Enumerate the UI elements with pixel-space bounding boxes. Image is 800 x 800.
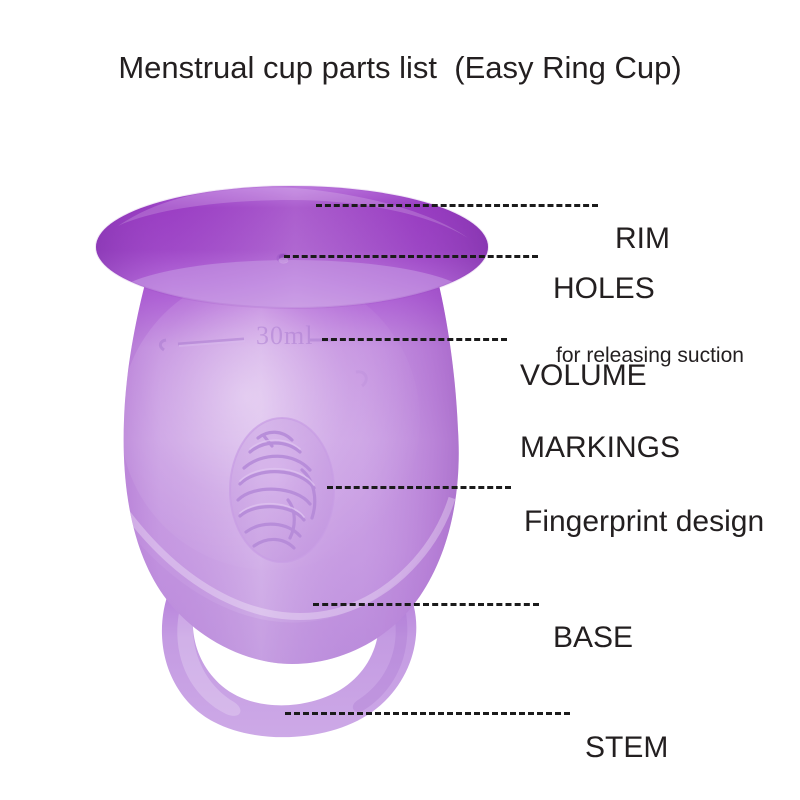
leader-line-stem [285, 712, 570, 715]
callout-fingerprint-label: Fingerprint design [524, 504, 764, 540]
callout-volume-label: VOLUME [520, 358, 680, 394]
leader-line-rim [316, 204, 598, 207]
leader-line-volume [322, 338, 507, 341]
leader-line-holes [284, 255, 538, 258]
fingerprint-design-emboss [230, 418, 334, 562]
callout-stem-label: STEM [585, 730, 668, 766]
callout-fingerprint: Fingerprint design [524, 468, 764, 576]
volume-marking-text: 30ml [256, 321, 313, 350]
callout-base: BASE [553, 584, 633, 692]
callout-stem: STEM [585, 694, 668, 800]
leader-line-fingerprint [327, 486, 511, 489]
leader-line-base [313, 603, 539, 606]
callout-base-label: BASE [553, 620, 633, 656]
callout-volume-sublabel: MARKINGS [520, 430, 680, 466]
callout-holes-label: HOLES [553, 271, 744, 307]
product-diagram-page: Menstrual cup parts list (Easy Ring Cup) [0, 0, 800, 800]
